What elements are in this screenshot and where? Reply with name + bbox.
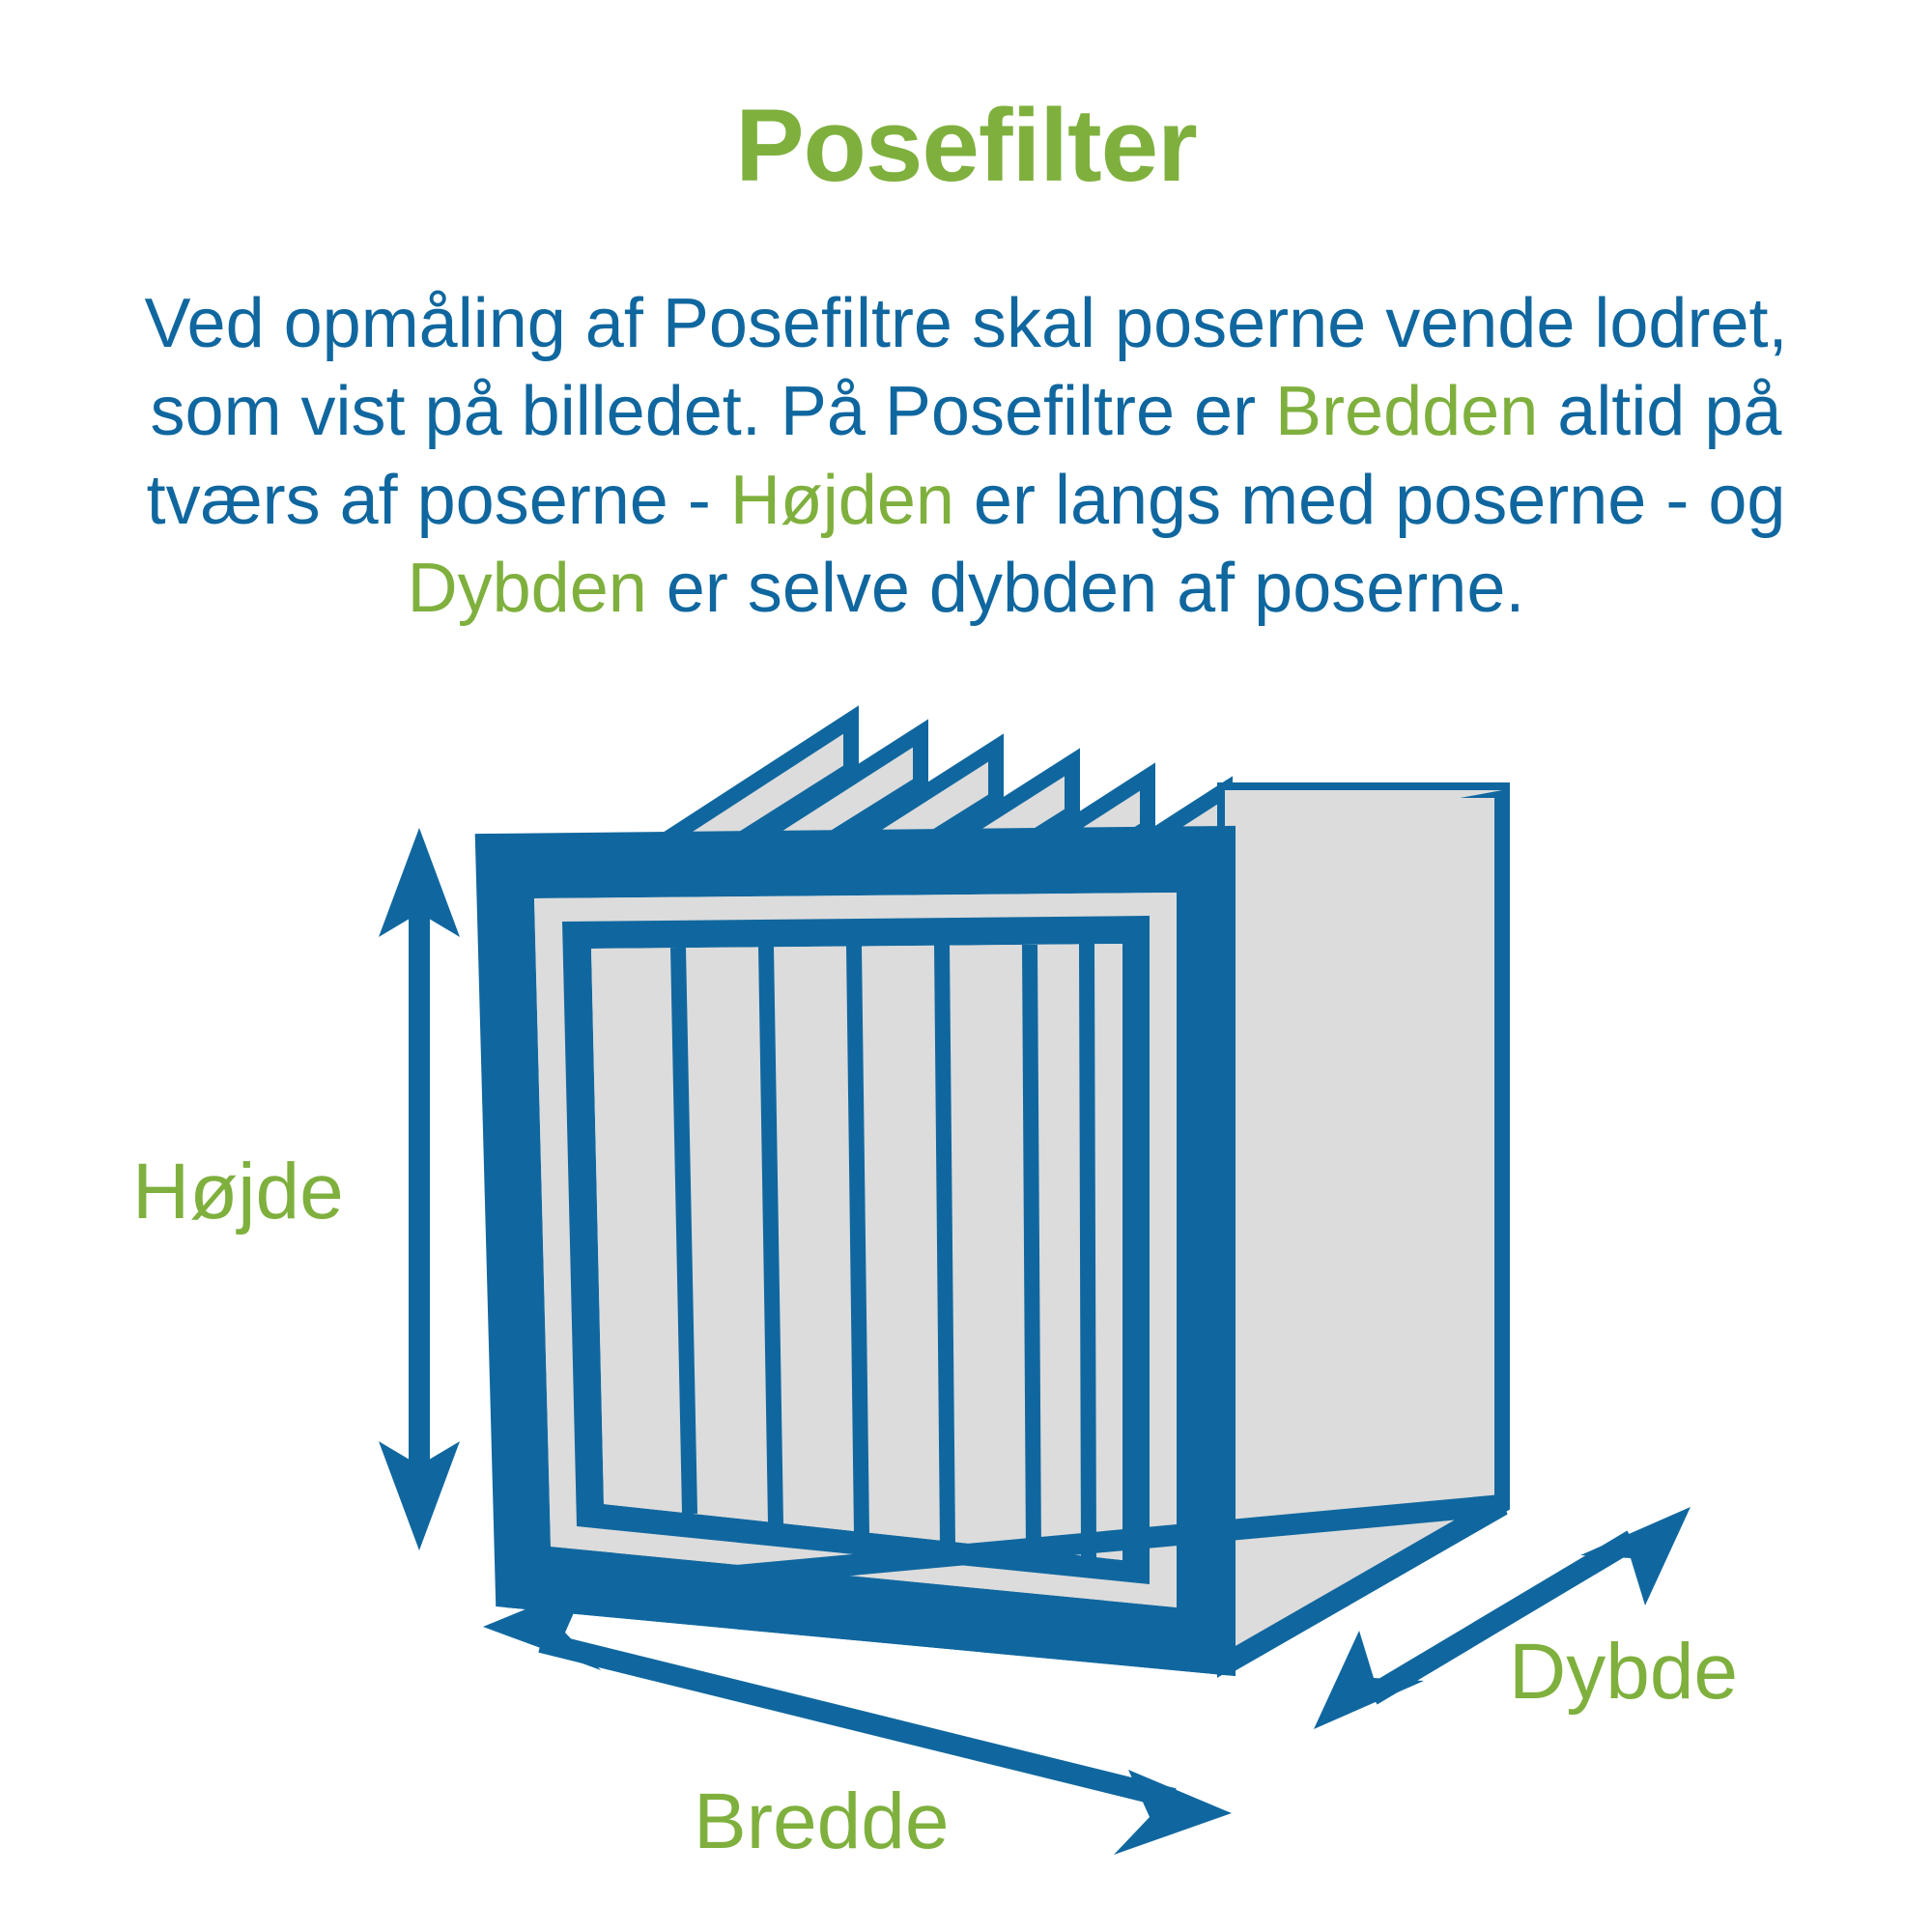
dimension-label-width: Bredde: [694, 1782, 949, 1861]
page-title: Posefilter: [0, 89, 1932, 203]
pocket-divider-3: [854, 946, 862, 1535]
width-arrow-head-right: [1114, 1770, 1232, 1855]
pocket-fins-group: [653, 720, 1225, 937]
pocket-divider-lines: [678, 945, 1034, 1555]
pocket-divider-5: [1030, 945, 1034, 1555]
filter-bottom-right-edge: [1225, 1505, 1502, 1664]
pocket-divider-1: [678, 948, 690, 1514]
pocket-fin-5: [950, 777, 1148, 923]
intro-keyword-hojden: Højden: [730, 462, 954, 539]
filter-front-opening: [591, 944, 1122, 1560]
pocket-fin-2: [719, 733, 921, 880]
filter-front-inner-frame-band: [562, 916, 1150, 1584]
dimension-label-depth: Dybde: [1509, 1633, 1738, 1712]
intro-segment-3: er langs med poserne - og: [954, 462, 1785, 539]
width-arrow-shaft: [541, 1642, 1174, 1799]
pocket-fin-1: [653, 720, 851, 867]
height-arrow-head-up: [379, 828, 460, 937]
pocket-fin-3: [795, 748, 996, 895]
filter-depth-face: [1225, 790, 1502, 1664]
intro-segment-4: er selve dybden af poserne.: [647, 550, 1525, 627]
pocket-divider-6: [1087, 944, 1089, 1559]
height-arrow: [379, 828, 460, 1550]
width-arrow-head-left: [483, 1584, 601, 1670]
filter-front-frame-band: [486, 837, 1225, 1664]
depth-arrow-head-lower-left: [1314, 1631, 1424, 1729]
page-root: Posefilter Ved opmåling af Posefiltre sk…: [0, 0, 1932, 1932]
intro-keyword-dybden: Dybden: [408, 550, 647, 627]
pocket-edge-strip: [1087, 944, 1089, 1559]
dimension-label-height: Højde: [132, 1152, 344, 1232]
height-arrow-head-down: [379, 1441, 460, 1550]
pocket-divider-2: [766, 947, 776, 1524]
filter-front-outer-frame: [486, 837, 1225, 1664]
filter-front-inner-frame: [534, 893, 1177, 1607]
filter-bottom-depth-edge: [506, 1505, 1502, 1664]
pocket-fin-6: [1027, 790, 1225, 937]
pocket-fin-4: [872, 762, 1072, 909]
pocket-divider-4: [942, 945, 948, 1546]
depth-arrow-head-upper-right: [1580, 1507, 1690, 1605]
filter-top-band-inner: [522, 874, 1200, 930]
filter-top-band: [486, 837, 1225, 961]
filter-depth-face-top: [1225, 790, 1502, 841]
intro-keyword-bredden: Bredden: [1275, 373, 1538, 450]
intro-paragraph: Ved opmåling af Posefiltre skal poserne …: [77, 280, 1855, 634]
